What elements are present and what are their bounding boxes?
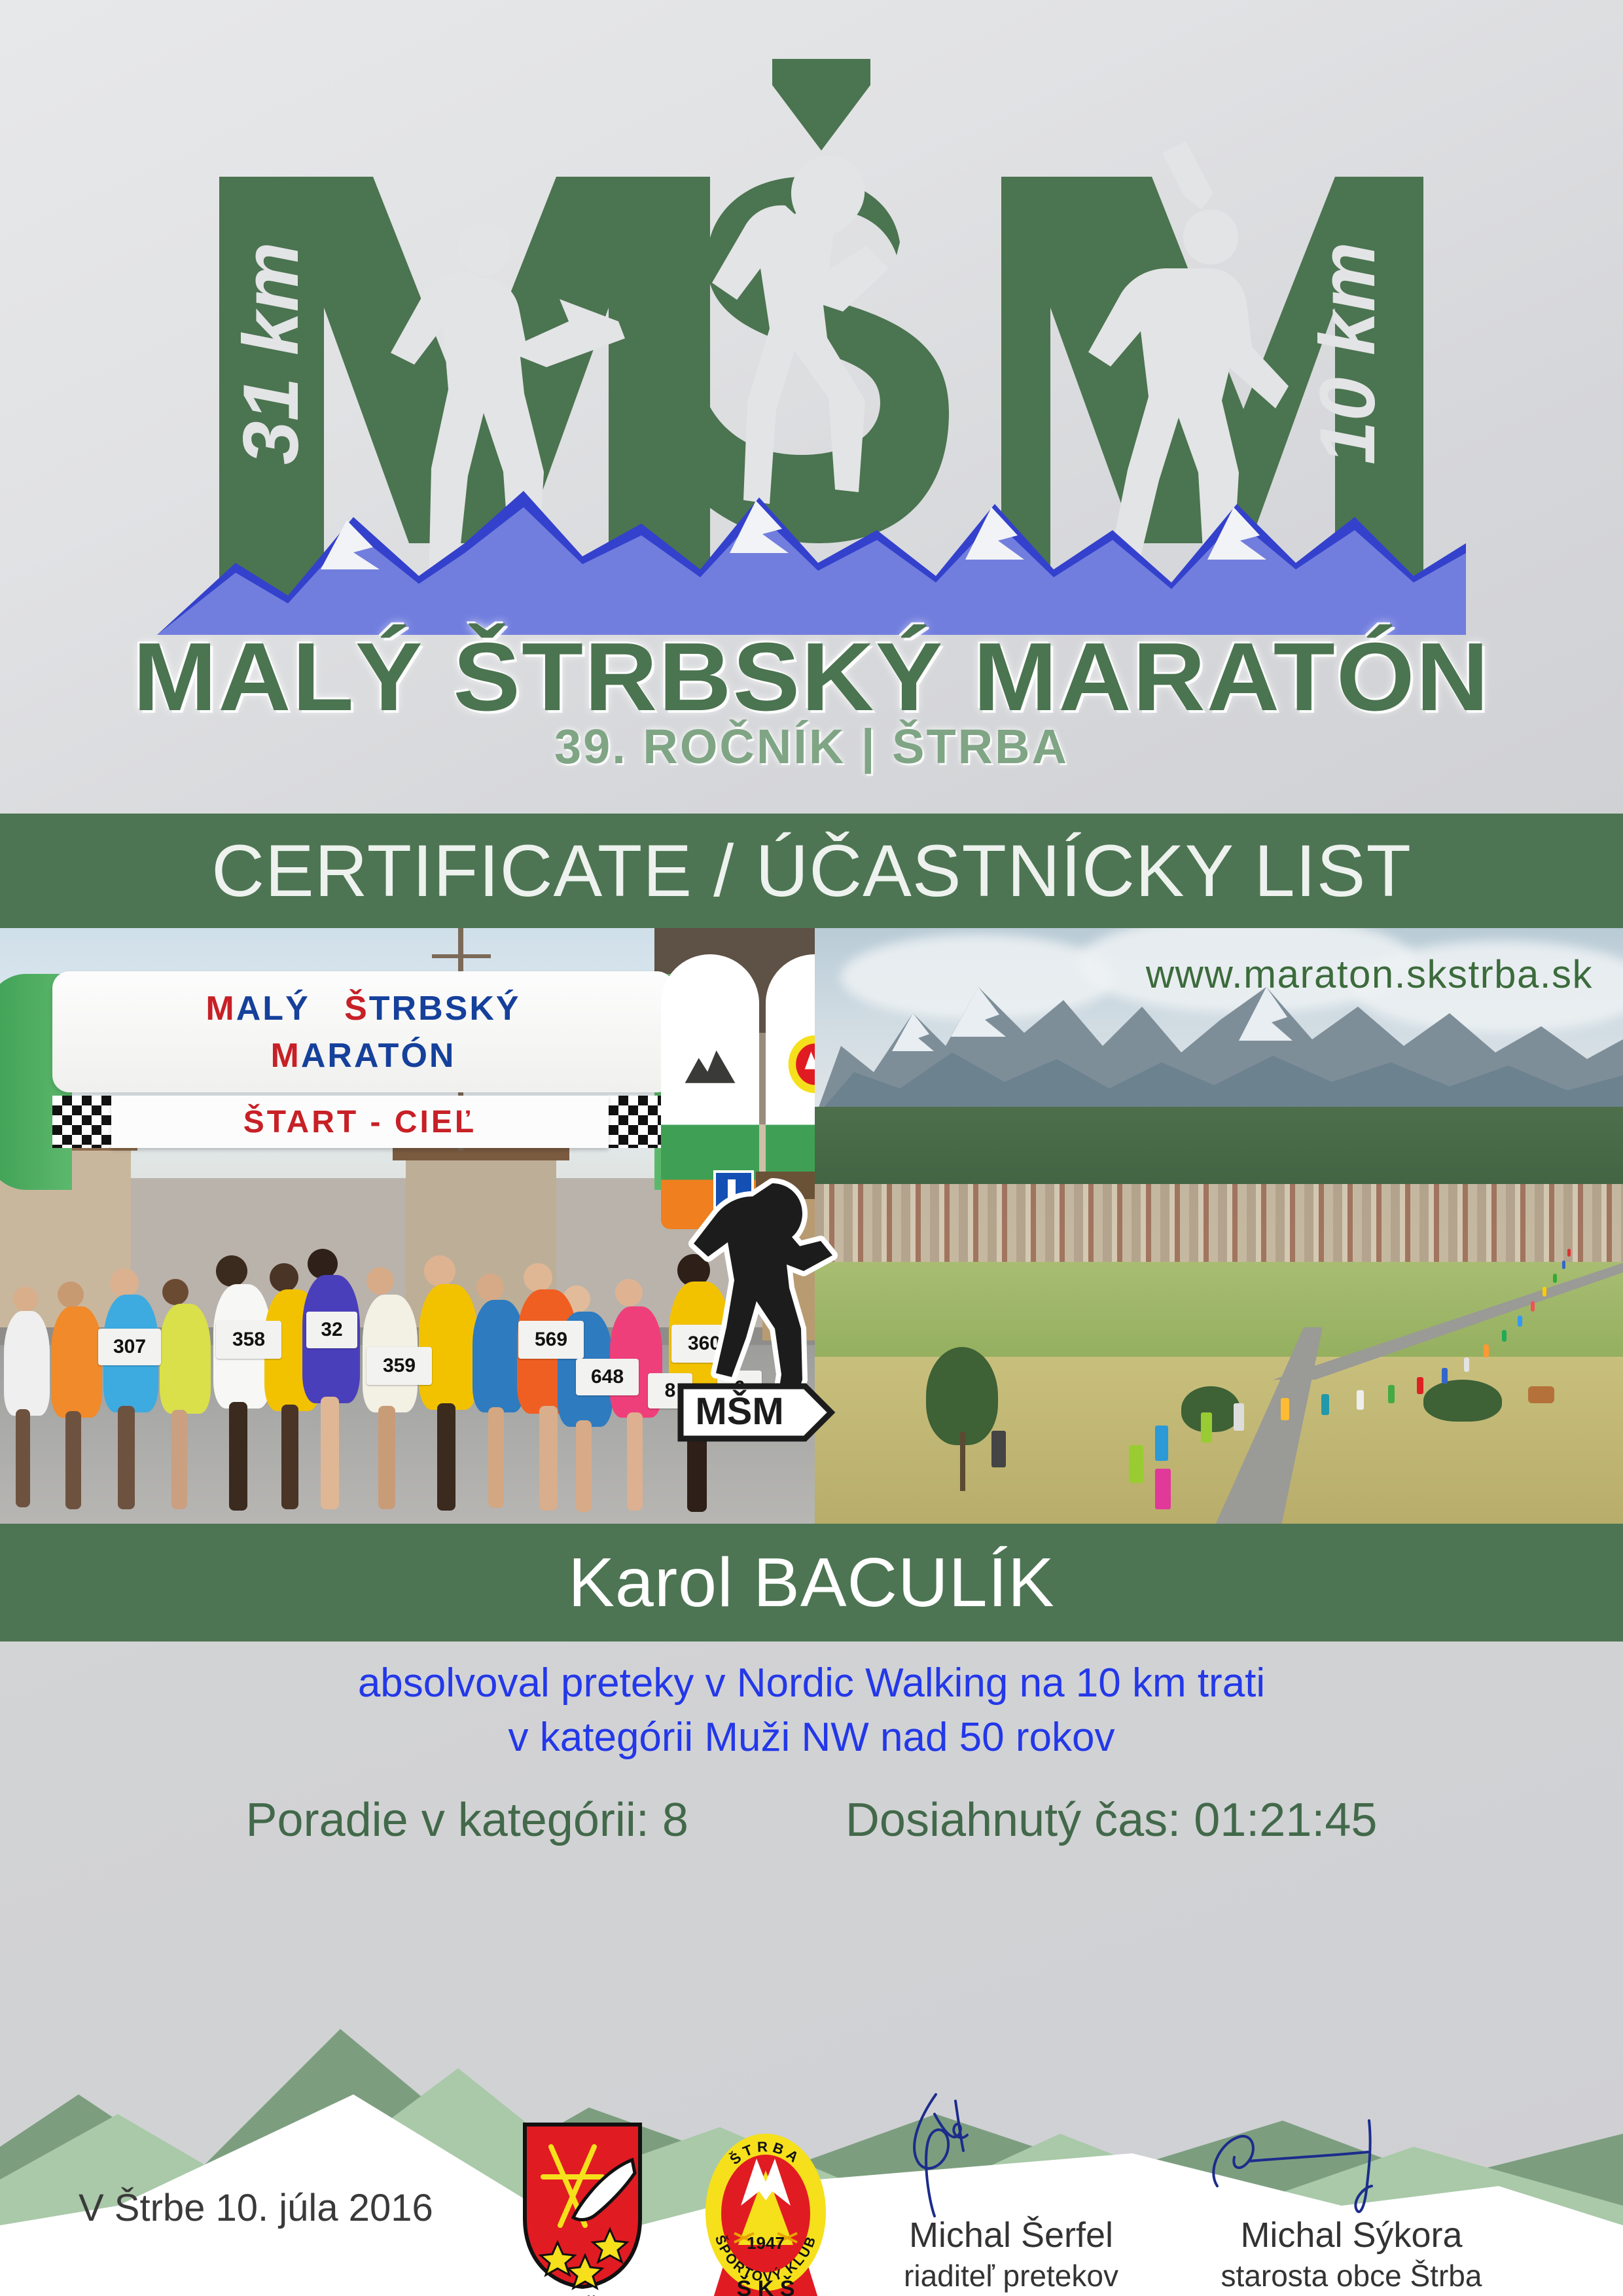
time-value: 01:21:45	[1194, 1794, 1377, 1846]
photo-strip: MALÝ ŠTRBSKÝ MARATÓN ŠTART - CIEĽ	[0, 928, 1623, 1524]
participant-name-banner: Karol BACULÍK	[0, 1524, 1623, 1641]
checker-flag-right	[609, 1096, 668, 1148]
arch-line-1: MALÝ ŠTRBSKÝ	[205, 989, 520, 1028]
event-title: MALÝ ŠTRBSKÝ MARATÓN	[0, 622, 1623, 733]
signatory-role: starosta obce Štrba	[1198, 2258, 1505, 2293]
signatory-name: Michal Sýkora	[1198, 2215, 1505, 2255]
header-section: 31 km 10 km	[0, 0, 1623, 814]
rank-result: Poradie v kategórii: 8	[246, 1793, 688, 1847]
time-label: Dosiahnutý čas:	[846, 1794, 1181, 1846]
sks-year: 1947	[747, 2233, 785, 2253]
website-url: www.maraton.skstrba.sk	[1146, 952, 1593, 997]
msm-logo: 31 km 10 km	[157, 46, 1466, 635]
checker-flag-left	[52, 1096, 111, 1148]
start-finish-text: ŠTART - CIEĽ	[243, 1104, 476, 1140]
issue-date: V Štrbe 10. júla 2016	[79, 2186, 433, 2230]
bib-number: 359	[366, 1347, 432, 1385]
signature-block-director: Michal Šerfel riaditeľ pretekov	[857, 2088, 1165, 2293]
photo-course-tatras: www.maraton.skstrba.sk	[815, 928, 1623, 1524]
bush	[1423, 1380, 1502, 1422]
results-row: Poradie v kategórii: 8 Dosiahnutý čas: 0…	[0, 1793, 1623, 1847]
obec-strba-crest-icon	[517, 2121, 648, 2291]
caron-accent	[772, 59, 870, 151]
obec-strba-crest: Obec Štrba	[517, 2121, 648, 2296]
sks-bottom-text: Š K Š	[737, 2276, 795, 2296]
cow	[1528, 1386, 1554, 1403]
tree-trunk	[960, 1432, 965, 1491]
msm-overlay-label: MŠM	[695, 1390, 783, 1433]
signature-block-mayor: Michal Sýkora starosta obce Štrba	[1198, 2088, 1505, 2293]
event-subtitle: 39. ROČNÍK | ŠTRBA	[0, 719, 1623, 774]
bib-number: 307	[98, 1329, 161, 1365]
certificate-page: 31 km 10 km	[0, 0, 1623, 2296]
sks-emblem-icon	[783, 1033, 815, 1096]
arch-line-2: MARATÓN	[271, 1036, 456, 1075]
start-arch-banner: MALÝ ŠTRBSKÝ MARATÓN	[52, 971, 674, 1092]
tatry-emblem-icon	[679, 1033, 741, 1096]
signature-serfel-icon	[857, 2088, 1165, 2219]
sks-strba-logo-icon: 1947 ŠTRBA ŠPORTOVÝ KLUB Š K Š	[694, 2114, 838, 2296]
signatory-name: Michal Šerfel	[857, 2215, 1165, 2255]
sks-strba-logo: 1947 ŠTRBA ŠPORTOVÝ KLUB Š K Š	[694, 2114, 838, 2296]
bib-number: 358	[216, 1321, 281, 1359]
participant-description: absolvoval preteky v Nordic Walking na 1…	[0, 1656, 1623, 1765]
certificate-banner: CERTIFICATE / ÚČASTNÍCKY LIST	[0, 814, 1623, 928]
participant-name: Karol BACULÍK	[568, 1543, 1055, 1623]
bib-number: 569	[518, 1321, 584, 1359]
logo-letter-s	[684, 156, 949, 543]
footer-section: V Štrbe 10. júla 2016	[0, 2029, 1623, 2296]
time-result: Dosiahnutý čas: 01:21:45	[846, 1793, 1378, 1847]
distance-right-label: 10 km	[1304, 242, 1391, 465]
tree	[926, 1347, 998, 1445]
start-finish-banner: ŠTART - CIEĽ	[111, 1096, 609, 1148]
msm-logo-svg: 31 km 10 km	[157, 46, 1466, 635]
bib-number: 32	[306, 1312, 357, 1348]
description-line-1: absolvoval preteky v Nordic Walking na 1…	[0, 1656, 1623, 1710]
certificate-banner-text: CERTIFICATE / ÚČASTNÍCKY LIST	[211, 829, 1412, 913]
signature-sykora-icon	[1198, 2088, 1505, 2219]
town-buildings	[815, 1184, 1623, 1267]
signatory-role: riaditeľ pretekov	[857, 2258, 1165, 2293]
msm-runner-overlay-icon: MŠM	[674, 1170, 857, 1445]
rank-label: Poradie v kategórii:	[246, 1794, 649, 1846]
rank-value: 8	[662, 1794, 688, 1846]
description-line-2: v kategórii Muži NW nad 50 rokov	[0, 1710, 1623, 1765]
bib-number: 648	[576, 1359, 639, 1395]
utility-crossarm	[432, 954, 491, 958]
distance-left-label: 31 km	[227, 242, 315, 465]
